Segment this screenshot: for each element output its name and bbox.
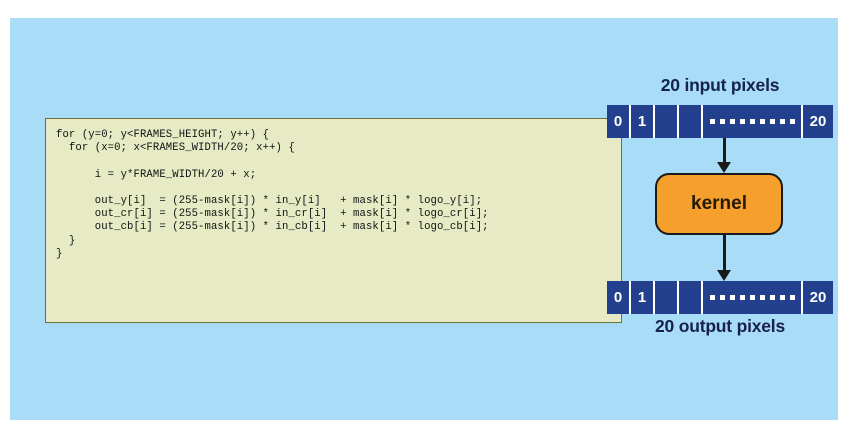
- output-pixel-bar: 0 1 20: [607, 281, 833, 314]
- input-pixels-caption: 20 input pixels: [607, 75, 833, 96]
- code-listing-box: for (y=0; y<FRAMES_HEIGHT; y++) { for (x…: [45, 118, 622, 323]
- output-pixel-cell-1: 1: [631, 281, 653, 314]
- input-pixel-bar: 0 1 20: [607, 105, 833, 138]
- ellipsis-dots-icon: [710, 295, 795, 300]
- code-listing-text: for (y=0; y<FRAMES_HEIGHT; y++) { for (x…: [46, 119, 621, 261]
- kernel-label: kernel: [691, 193, 747, 215]
- input-pixel-ellipsis: [703, 105, 801, 138]
- arrow-head-icon: [717, 162, 731, 173]
- figure-background-panel: for (y=0; y<FRAMES_HEIGHT; y++) { for (x…: [10, 18, 838, 420]
- input-pixel-cell-1: 1: [631, 105, 653, 138]
- figure-canvas: for (y=0; y<FRAMES_HEIGHT; y++) { for (x…: [0, 0, 849, 426]
- output-pixel-cell-blank-a: [655, 281, 677, 314]
- input-pixel-cell-0: 0: [607, 105, 629, 138]
- output-pixel-cell-blank-b: [679, 281, 701, 314]
- arrow-input-to-kernel: [717, 138, 731, 173]
- kernel-box: kernel: [655, 173, 783, 235]
- arrow-shaft: [723, 235, 726, 271]
- output-pixel-ellipsis: [703, 281, 801, 314]
- output-pixels-caption: 20 output pixels: [607, 316, 833, 337]
- arrow-kernel-to-output: [717, 235, 731, 281]
- arrow-head-icon: [717, 270, 731, 281]
- input-pixel-cell-blank-b: [679, 105, 701, 138]
- ellipsis-dots-icon: [710, 119, 795, 124]
- input-pixel-cell-20: 20: [803, 105, 833, 138]
- arrow-shaft: [723, 138, 726, 163]
- output-pixel-cell-0: 0: [607, 281, 629, 314]
- input-pixel-cell-blank-a: [655, 105, 677, 138]
- output-pixel-cell-20: 20: [803, 281, 833, 314]
- dataflow-diagram: 20 input pixels 0 1 20 kernel: [607, 73, 837, 343]
